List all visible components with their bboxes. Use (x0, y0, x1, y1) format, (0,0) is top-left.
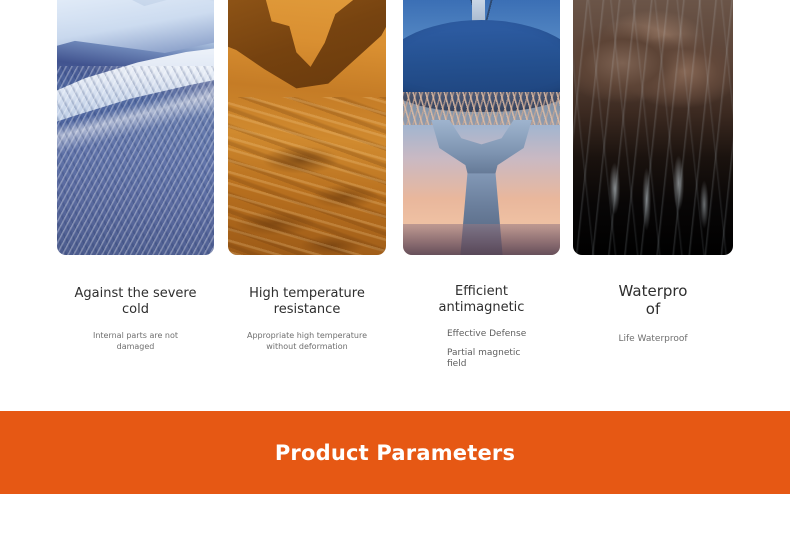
feature-title: Waterpro of (573, 255, 733, 318)
feature-caption: High temperature resistance Appropriate … (228, 255, 386, 352)
feature-title: Efficient antimagnetic (403, 255, 560, 315)
dune-shadow-shape (228, 133, 386, 255)
feature-title: High temperature resistance (228, 255, 386, 317)
dish-yoke-shape (431, 120, 531, 181)
dish-truss-shape (403, 92, 560, 125)
radio-telescope-photo (403, 0, 560, 255)
feature-cards-row: Against the severe cold Internal parts a… (0, 0, 790, 400)
hands-water-photo (573, 0, 733, 255)
horizon-shape (403, 224, 560, 255)
feature-card-cold[interactable]: Against the severe cold Internal parts a… (57, 0, 214, 352)
feature-subtitle-line-1: Effective Defense (403, 315, 560, 341)
feature-subtitle: Life Waterproof (573, 318, 733, 345)
snowy-mountain-photo (57, 0, 214, 255)
feature-card-antimagnetic[interactable]: Efficient antimagnetic Effective Defense… (403, 0, 560, 371)
feature-subtitle-line-2: Partial magnetic field (403, 341, 560, 371)
desert-camel-photo (228, 0, 386, 255)
feature-card-waterproof[interactable]: Waterpro of Life Waterproof (573, 0, 733, 345)
feature-title: Against the severe cold (57, 255, 214, 317)
feature-subtitle: Appropriate high temperature without def… (228, 317, 386, 352)
feature-caption: Against the severe cold Internal parts a… (57, 255, 214, 352)
snow-ridge-shape (57, 43, 214, 130)
feature-caption: Efficient antimagnetic Effective Defense… (403, 255, 560, 371)
feature-caption: Waterpro of Life Waterproof (573, 255, 733, 345)
water-stream-shape (573, 122, 733, 255)
feature-card-high-temperature[interactable]: High temperature resistance Appropriate … (228, 0, 386, 352)
product-parameters-banner: Product Parameters (0, 411, 790, 494)
feature-subtitle: Internal parts are not damaged (57, 317, 214, 352)
banner-title: Product Parameters (275, 441, 515, 465)
